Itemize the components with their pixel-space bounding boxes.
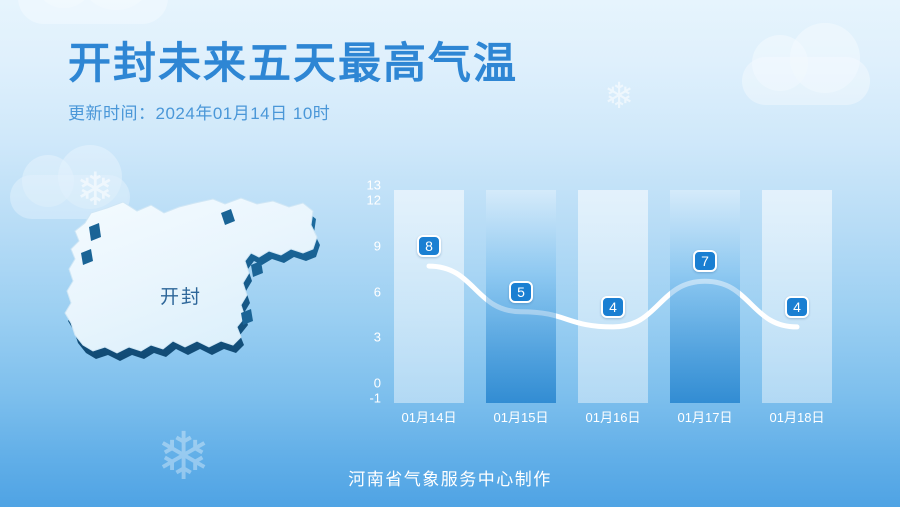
chart-plot-area: 85474 <box>383 190 843 403</box>
y-axis-tick: 12 <box>367 194 381 207</box>
weather-infographic: ❄ ❄ ❄ 开封未来五天最高气温 更新时间：2024年01月14日 10时 <box>0 0 900 507</box>
data-point-badge[interactable]: 5 <box>509 281 533 303</box>
map-region-label: 开封 <box>160 282 202 309</box>
chart-bar <box>394 190 464 403</box>
map-face <box>65 198 317 353</box>
page-title: 开封未来五天最高气温 <box>68 42 518 87</box>
y-axis-tick: 13 <box>367 179 381 192</box>
y-axis-tick: 0 <box>374 376 381 389</box>
data-point-badge[interactable]: 7 <box>693 250 717 272</box>
snowflake-icon-top-right: ❄ <box>604 78 634 114</box>
data-point-badge[interactable]: 4 <box>785 296 809 318</box>
x-axis-tick: 01月17日 <box>659 407 751 426</box>
cloud-icon-top-right <box>742 57 870 105</box>
y-axis-tick: 3 <box>374 331 381 344</box>
y-axis: 13129630-1 <box>355 185 381 408</box>
x-axis: 01月14日01月15日01月16日01月17日01月18日 <box>383 407 843 429</box>
y-axis-tick: 6 <box>374 285 381 298</box>
cloud-icon-top-left <box>18 0 168 24</box>
temperature-chart: 13129630-1 85474 01月14日01月15日01月16日01月17… <box>355 185 845 425</box>
x-axis-tick: 01月16日 <box>567 407 659 426</box>
footer-credit: 河南省气象服务中心制作 <box>0 465 900 490</box>
update-time-text: 更新时间：2024年01月14日 10时 <box>68 99 518 124</box>
x-axis-tick: 01月14日 <box>383 407 475 426</box>
data-point-badge[interactable]: 4 <box>601 296 625 318</box>
y-axis-tick: -1 <box>369 392 381 405</box>
x-axis-tick: 01月15日 <box>475 407 567 426</box>
header: 开封未来五天最高气温 更新时间：2024年01月14日 10时 <box>68 42 518 124</box>
chart-bar <box>670 190 740 403</box>
x-axis-tick: 01月18日 <box>751 407 843 426</box>
data-point-badge[interactable]: 8 <box>417 235 441 257</box>
y-axis-tick: 9 <box>374 239 381 252</box>
